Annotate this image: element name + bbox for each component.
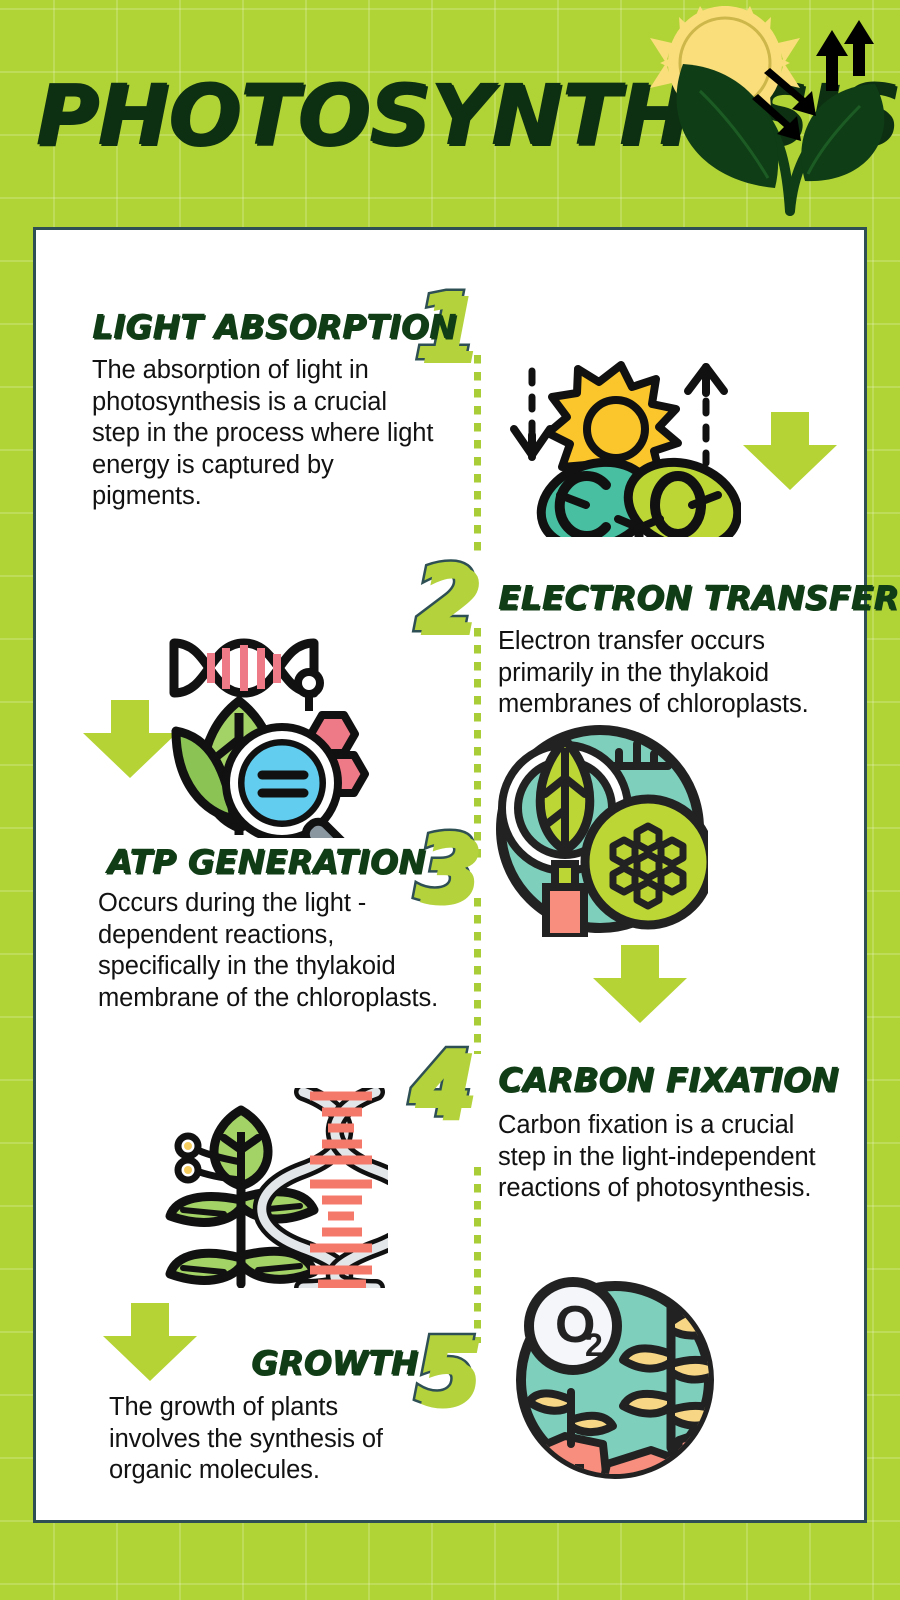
content-card: 1 LIGHT ABSORPTION The absorption of lig… — [33, 227, 867, 1523]
connector-dots-1 — [474, 355, 481, 555]
header-illustration — [640, 6, 900, 221]
step-illustration-1 — [506, 357, 741, 537]
step-heading-5: GROWTH — [251, 1343, 418, 1382]
step-body-2: Electron transfer occurs primarily in th… — [498, 626, 858, 721]
step-heading-2: ELECTRON TRANSFER — [498, 578, 899, 617]
oxygen-out-arrows-icon — [816, 20, 874, 91]
step-body-5: The growth of plants involves the synthe… — [109, 1392, 429, 1487]
step-heading-1: LIGHT ABSORPTION — [92, 307, 457, 346]
step-heading-3: ATP GENERATION — [107, 842, 426, 881]
header: PHOTOSYNTHESIS — [0, 0, 900, 227]
step-number-4: 4 — [409, 1038, 473, 1130]
step-illustration-5: O 2 — [503, 1268, 718, 1483]
step-illustration-3 — [154, 623, 379, 838]
step-arrow-4 — [101, 1303, 199, 1383]
step-heading-4: CARBON FIXATION — [498, 1060, 839, 1099]
step-arrow-1 — [741, 412, 839, 492]
connector-dots-3 — [474, 898, 481, 1054]
step-body-3: Occurs during the light -dependent react… — [98, 888, 443, 1014]
o2-subscript: 2 — [585, 1327, 603, 1363]
step-arrow-3 — [591, 945, 689, 1025]
step-number-2: 2 — [414, 553, 478, 645]
step-illustration-4 — [158, 1088, 388, 1288]
step-body-4: Carbon fixation is a crucial step in the… — [498, 1110, 843, 1205]
step-body-1: The absorption of light in photosynthesi… — [92, 355, 437, 513]
page-background: PHOTOSYNTHESIS — [0, 0, 900, 1600]
step-illustration-2 — [493, 722, 708, 937]
